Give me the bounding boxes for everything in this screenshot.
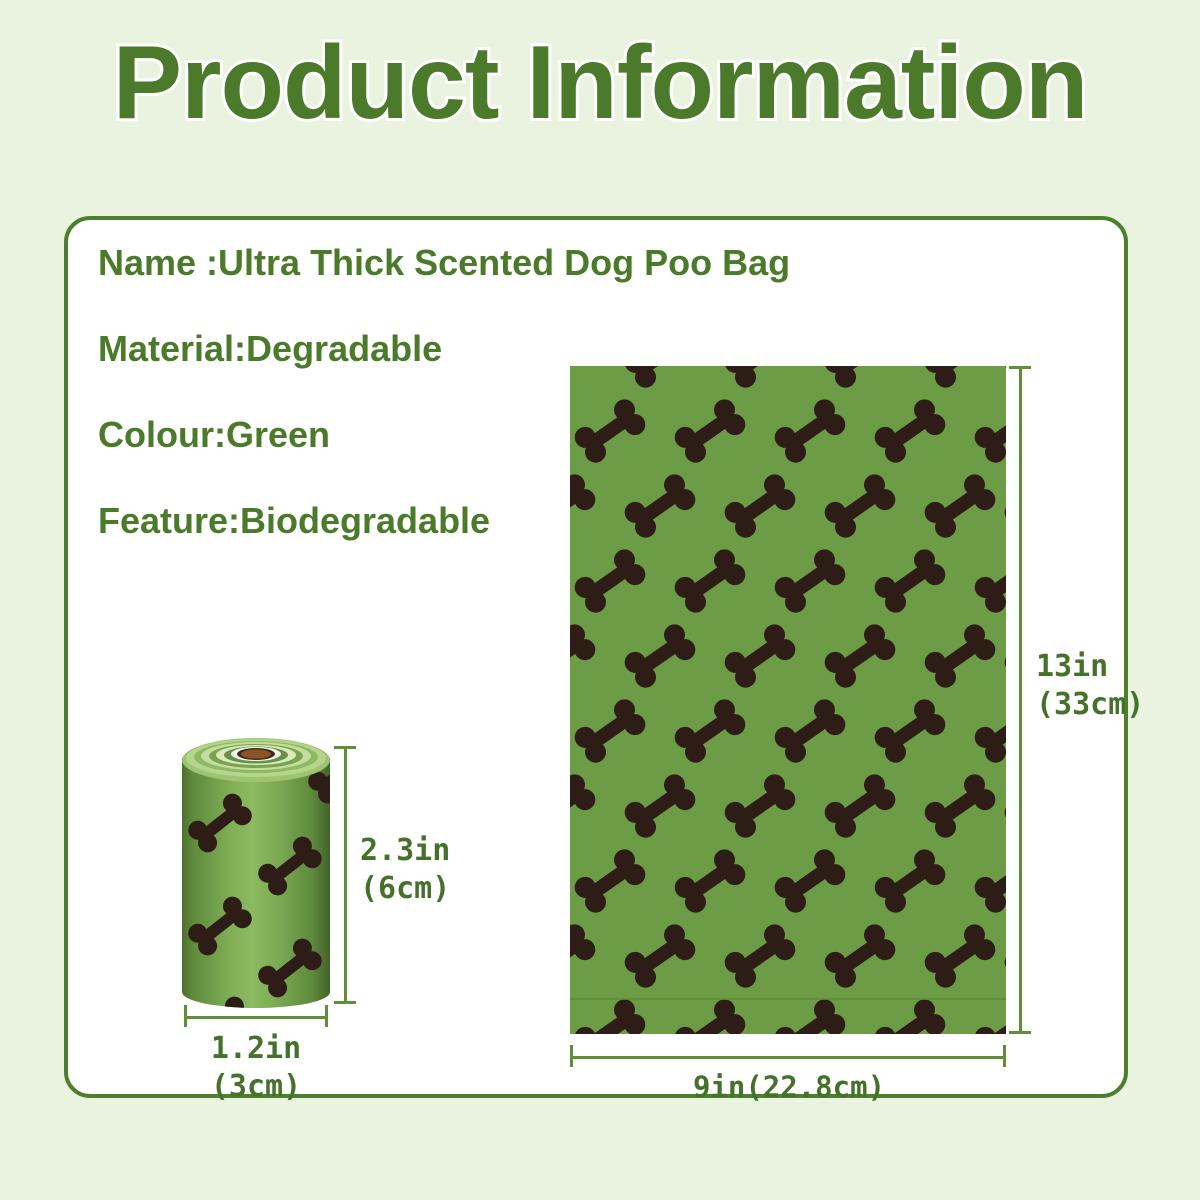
bag-body — [570, 366, 1006, 1034]
bag-width-label: 9in(22.8cm) — [566, 1070, 1012, 1104]
bag-seal-line — [570, 998, 1006, 1000]
roll-width-value: 1.2in — [164, 1030, 348, 1068]
bag-width-cap-right — [1003, 1045, 1006, 1067]
roll-width-cap-left — [184, 1005, 187, 1027]
bag-height-cap-bottom — [1009, 1031, 1031, 1034]
product-information-card: Name :Ultra Thick Scented Dog Poo Bag Ma… — [64, 216, 1128, 1098]
bag-height-cap-top — [1009, 366, 1031, 369]
roll-height-cap-bottom — [334, 1001, 356, 1004]
roll-height-value: 2.3in — [360, 832, 450, 870]
page-title: Product Information — [0, 24, 1200, 142]
roll-width-label: 1.2in (3cm) — [164, 1030, 348, 1106]
bag-width-cap-left — [570, 1045, 573, 1067]
roll-body — [182, 758, 330, 1008]
roll-width-cap-right — [325, 1005, 328, 1027]
roll-height-cap-top — [334, 746, 356, 749]
bag-height-value: 13in — [1036, 648, 1144, 686]
dog-poo-bag-roll-illustration — [182, 736, 330, 1008]
spec-row-feature: Feature:Biodegradable — [98, 500, 618, 542]
spec-list: Name :Ultra Thick Scented Dog Poo Bag Ma… — [98, 242, 618, 586]
roll-coil-top — [182, 736, 330, 782]
spec-row-material: Material:Degradable — [98, 328, 618, 370]
roll-width-dimension-line — [184, 1016, 328, 1019]
bone-pattern-bag — [570, 366, 1006, 1034]
spec-row-colour: Colour:Green — [98, 414, 618, 456]
roll-height-label: 2.3in (6cm) — [360, 832, 450, 908]
bag-width-dimension-line — [570, 1056, 1006, 1059]
bone-pattern-roll — [182, 758, 330, 1008]
bag-height-metric: (33cm) — [1036, 686, 1144, 724]
roll-height-metric: (6cm) — [360, 870, 450, 908]
spec-row-name: Name :Ultra Thick Scented Dog Poo Bag — [98, 242, 618, 284]
dog-poo-bag-illustration — [570, 366, 1006, 1034]
bag-height-label: 13in (33cm) — [1036, 648, 1144, 724]
roll-height-dimension-line — [344, 746, 347, 1004]
bag-height-dimension-line — [1019, 366, 1022, 1034]
roll-width-metric: (3cm) — [164, 1068, 348, 1106]
